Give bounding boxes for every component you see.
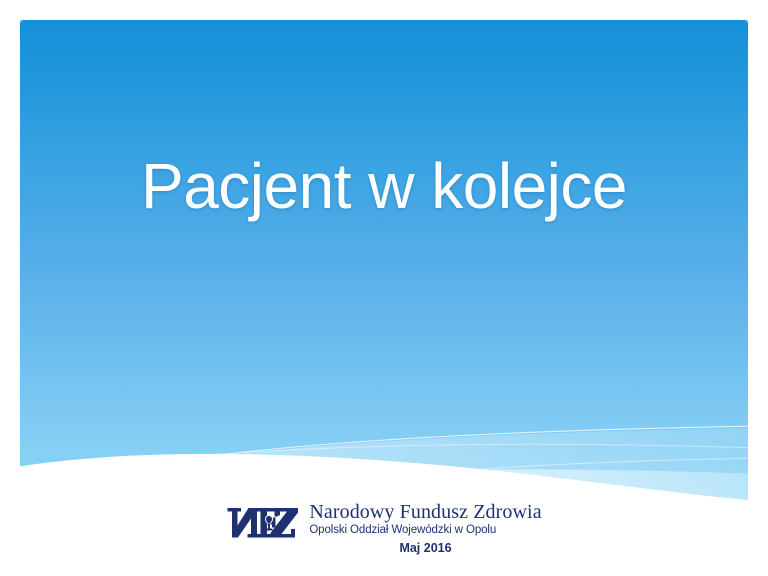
presentation-slide: Pacjent w kolejce	[0, 0, 768, 576]
slide-background-panel	[20, 20, 748, 502]
title-block: Pacjent w kolejce	[20, 150, 748, 224]
nfz-logo-icon	[226, 503, 300, 543]
organization-name: Narodowy Fundusz Zdrowia	[309, 501, 541, 523]
presentation-date: Maj 2016	[309, 540, 541, 556]
footer-logo-lockup: Narodowy Fundusz Zdrowia Opolski Oddział…	[0, 500, 768, 556]
organization-unit: Opolski Oddział Wojewódzki w Opolu	[309, 523, 496, 537]
slide-title: Pacjent w kolejce	[141, 150, 627, 224]
